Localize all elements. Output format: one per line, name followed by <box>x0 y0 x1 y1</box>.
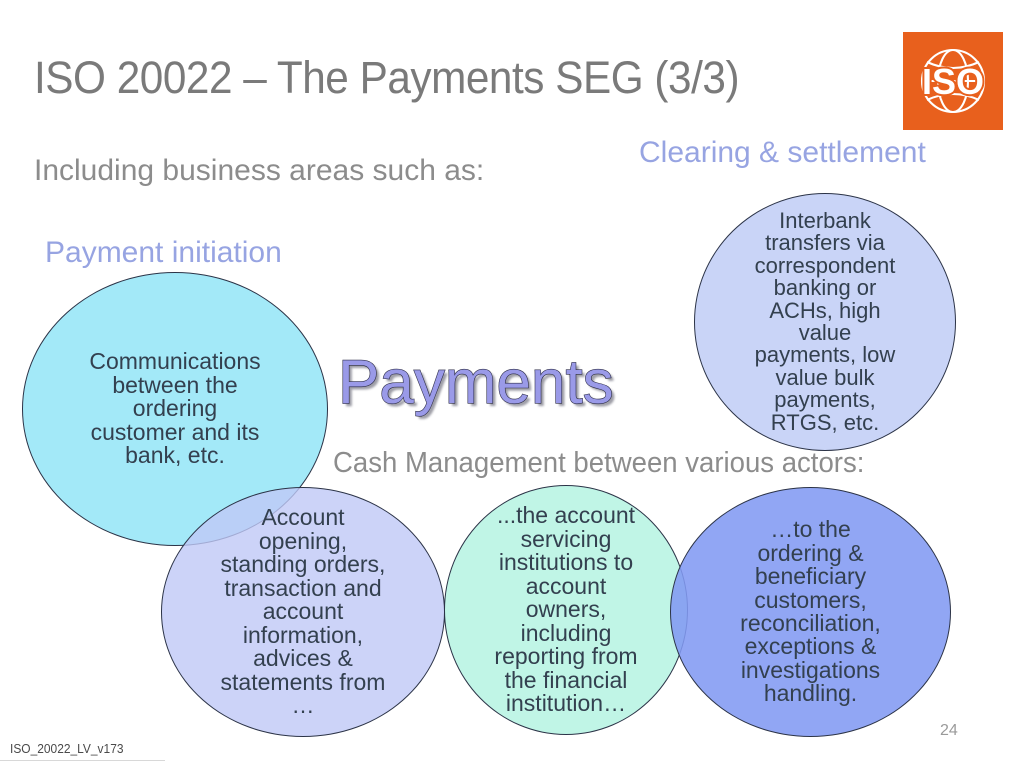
bubble-account-servicing-text: ...the account servicing institutions to… <box>452 504 679 715</box>
footer-divider <box>0 760 165 761</box>
iso-logo: ISO <box>903 32 1003 130</box>
page-title: ISO 20022 – The Payments SEG (3/3) <box>34 52 739 104</box>
footer-document-id: ISO_20022_LV_v173 <box>10 741 124 756</box>
bubble-payment-initiation-text: Communications between the ordering cust… <box>32 350 318 467</box>
label-clearing-settlement: Clearing & settlement <box>639 136 926 170</box>
label-payment-initiation: Payment initiation <box>45 236 282 270</box>
bubble-account-operations-text: Account opening, standing orders, transa… <box>170 506 435 717</box>
bubble-clearing-settlement-text: Interbank transfers via correspondent ba… <box>703 210 947 434</box>
bubble-account-operations: Account opening, standing orders, transa… <box>161 487 445 737</box>
page-number: 24 <box>940 722 958 740</box>
svg-text:ISO: ISO <box>922 61 984 102</box>
iso-globe-icon: ISO <box>903 32 1003 130</box>
center-word-payments: Payments <box>338 347 614 418</box>
bubble-customers-text: …to the ordering & beneficiary customers… <box>679 518 941 706</box>
caption-cash-management: Cash Management between various actors: <box>333 447 864 480</box>
bubble-customers: …to the ordering & beneficiary customers… <box>670 487 951 737</box>
bubble-account-servicing: ...the account servicing institutions to… <box>444 485 688 735</box>
subtitle-text: Including business areas such as: <box>34 154 484 188</box>
slide-canvas: ISO 20022 – The Payments SEG (3/3) ISO I… <box>0 0 1024 768</box>
bubble-clearing-settlement: Interbank transfers via correspondent ba… <box>694 193 956 451</box>
